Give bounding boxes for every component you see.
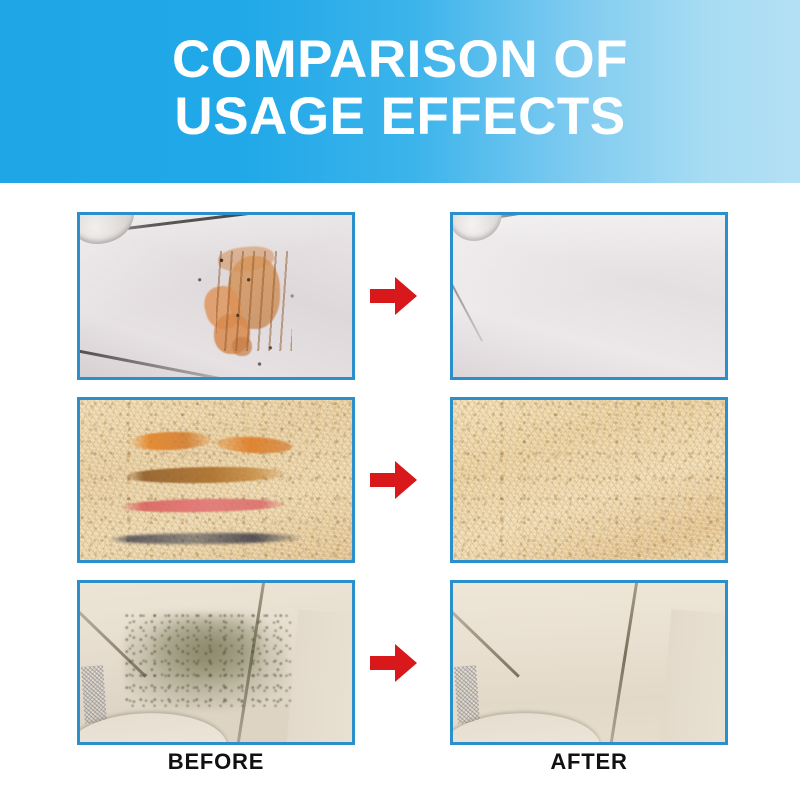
photo-car-seat-stained (80, 215, 352, 377)
page-title: COMPARISON OF USAGE EFFECTS (152, 32, 648, 145)
seat-seam (453, 245, 483, 342)
header-banner: COMPARISON OF USAGE EFFECTS (0, 0, 800, 183)
seat-mesh-trim (454, 665, 480, 724)
before-label: BEFORE (77, 749, 355, 775)
seat-seam (453, 596, 520, 677)
after-image-frame-3 (450, 580, 728, 745)
comparison-row-2 (0, 397, 800, 563)
seat-side-panel (286, 609, 352, 742)
after-image-frame-2 (450, 397, 728, 563)
photo-leather-seat-soiled (80, 583, 352, 742)
before-image-frame-1 (77, 212, 355, 380)
comparison-row-1 (0, 212, 800, 380)
arrow-right-icon-1 (370, 275, 418, 317)
comparison-grid (0, 183, 800, 800)
seat-seam (607, 583, 640, 742)
after-label: AFTER (450, 749, 728, 775)
photo-car-seat-clean (453, 215, 725, 377)
photo-carpet-clean (453, 400, 725, 560)
comparison-row-3 (0, 580, 800, 745)
stain-specks (80, 215, 352, 377)
before-image-frame-2 (77, 397, 355, 563)
label-row: BEFORE AFTER (0, 749, 800, 800)
soil-specks (124, 612, 293, 711)
seat-side-panel (659, 609, 725, 742)
before-image-frame-3 (77, 580, 355, 745)
seat-mesh-trim (81, 665, 107, 724)
photo-carpet-stained (80, 400, 352, 560)
carpet-texture-specks (453, 400, 725, 560)
arrow-right-icon-3 (370, 642, 418, 684)
after-image-frame-1 (450, 212, 728, 380)
photo-leather-seat-clean (453, 583, 725, 742)
arrow-right-icon-2 (370, 459, 418, 501)
